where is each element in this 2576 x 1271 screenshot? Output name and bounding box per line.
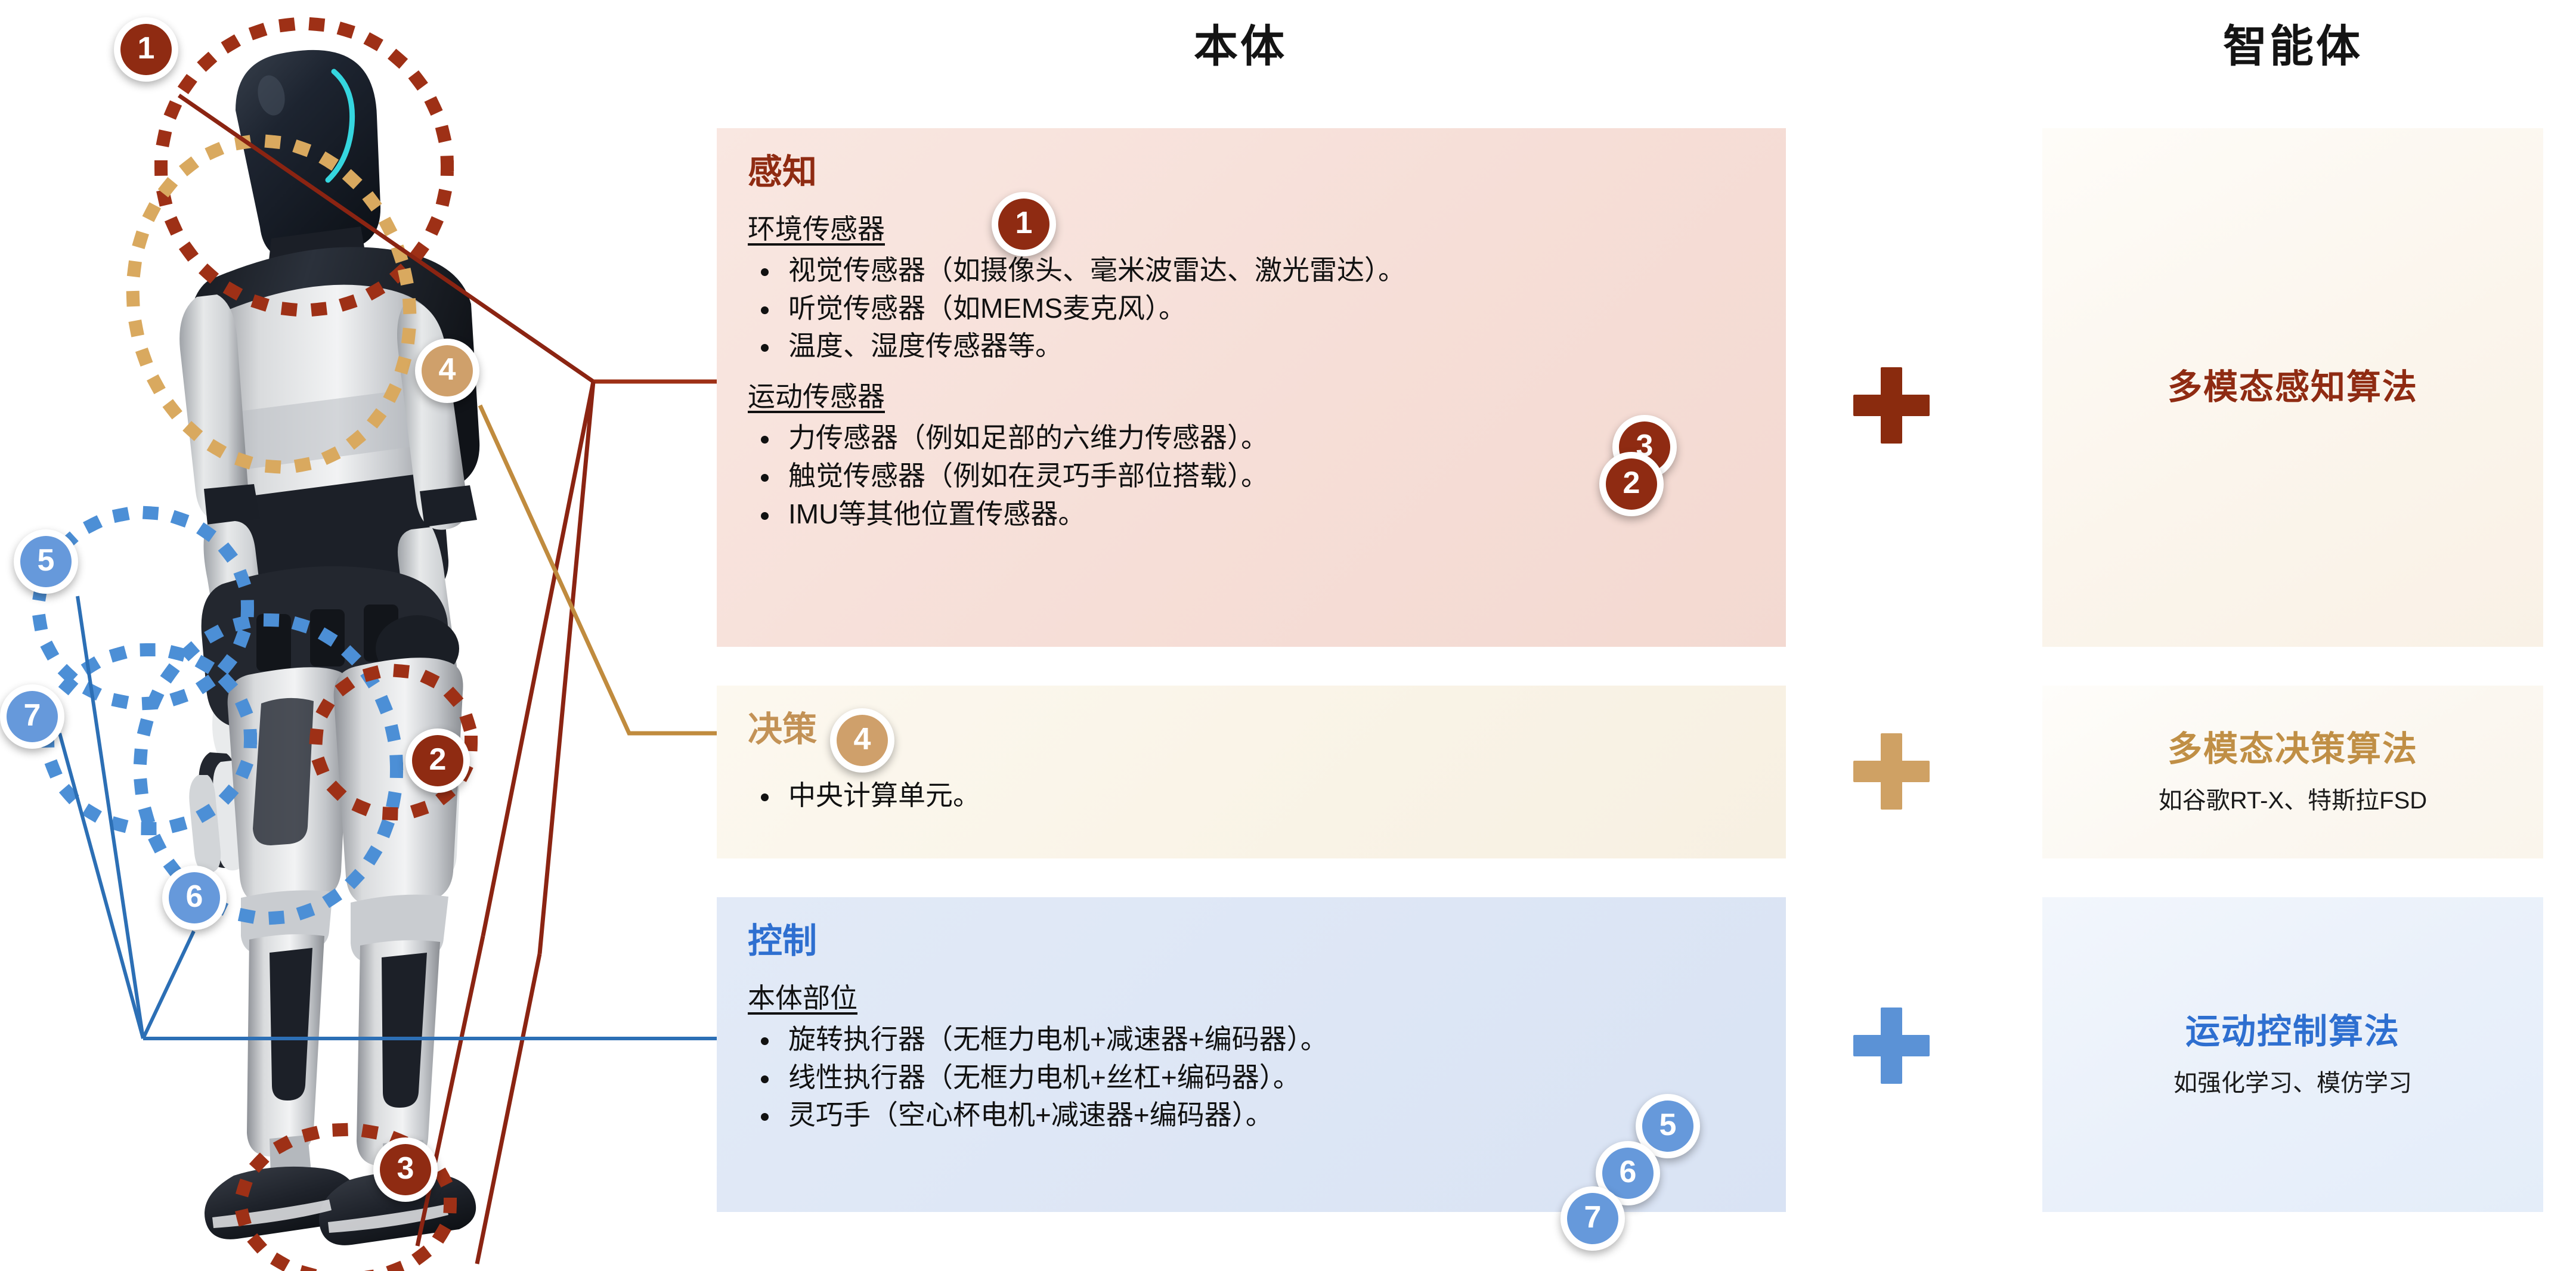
list-item: 线性执行器（无框力电机+丝杠+编码器）。 — [788, 1060, 1755, 1096]
perception-group-0-subhead: 环境传感器 — [748, 207, 885, 247]
agent-control-subtitle: 如强化学习、模仿学习 — [2173, 1064, 2412, 1098]
inline-badge-4-number: 4 — [837, 715, 888, 766]
perception-group-0-list: 视觉传感器（如摄像头、毫米波雷达、激光雷达）。 听觉传感器（如MEMS麦克风）。… — [754, 253, 1755, 364]
panel-decision: 决策 4 中央计算单元。 — [717, 686, 1786, 858]
inline-badge-7[interactable]: 7 — [1561, 1186, 1625, 1251]
list-item: 力传感器（例如足部的六维力传感器）。 — [788, 420, 1755, 456]
panel-control-title: 控制 — [748, 923, 817, 960]
list-item: 视觉传感器（如摄像头、毫米波雷达、激光雷达）。 — [788, 253, 1755, 289]
column-title-agent: 智能体 — [2042, 11, 2543, 75]
diagram-canvas: 本体 智能体 — [0, 0, 2576, 1271]
callout-badge-4[interactable]: 4 — [415, 339, 479, 403]
column-title-body: 本体 — [1073, 11, 1407, 75]
control-group-0-list: 旋转执行器（无框力电机+减速器+编码器）。 线性执行器（无框力电机+丝杠+编码器… — [754, 1022, 1755, 1133]
inline-badge-1[interactable]: 1 — [992, 192, 1056, 256]
callout-badge-5-number: 5 — [20, 536, 72, 587]
agent-decision-subtitle: 如谷歌RT-X、特斯拉FSD — [2159, 781, 2427, 816]
callout-badge-2[interactable]: 2 — [405, 728, 470, 793]
robot-illustration — [0, 0, 716, 1271]
inline-badge-2-number: 2 — [1606, 458, 1657, 510]
agent-box-decision: 多模态决策算法 如谷歌RT-X、特斯拉FSD — [2042, 686, 2543, 858]
callout-badge-3-number: 3 — [380, 1144, 431, 1195]
panel-control: 控制 本体部位 旋转执行器（无框力电机+减速器+编码器）。 线性执行器（无框力电… — [717, 897, 1786, 1212]
inline-badge-1-number: 1 — [998, 199, 1049, 250]
agent-box-control: 运动控制算法 如强化学习、模仿学习 — [2042, 897, 2543, 1212]
callout-badge-1-number: 1 — [120, 24, 172, 75]
callout-badge-2-number: 2 — [412, 735, 463, 786]
inline-badge-7-number: 7 — [1567, 1193, 1618, 1244]
callout-badge-6[interactable]: 6 — [162, 866, 227, 930]
list-item: 温度、湿度传感器等。 — [788, 328, 1755, 364]
plus-icon-control — [1853, 1007, 1930, 1084]
plus-icon-perception — [1853, 367, 1930, 444]
callout-badge-1[interactable]: 1 — [114, 17, 178, 82]
callout-badge-3[interactable]: 3 — [373, 1137, 438, 1202]
panel-decision-title: 决策 — [748, 712, 817, 748]
perception-group-1-subhead: 运动传感器 — [748, 375, 885, 414]
inline-badge-2[interactable]: 2 — [1599, 452, 1664, 516]
agent-control-title: 运动控制算法 — [2185, 1011, 2400, 1053]
callout-badge-5[interactable]: 5 — [14, 529, 78, 594]
decision-group-0-list: 中央计算单元。 — [754, 778, 1755, 814]
panel-perception: 感知 环境传感器 1 视觉传感器（如摄像头、毫米波雷达、激光雷达）。 听觉传感器… — [717, 128, 1786, 647]
inline-badge-5-number: 5 — [1642, 1100, 1693, 1152]
list-item: 灵巧手（空心杯电机+减速器+编码器）。 — [788, 1098, 1755, 1133]
panel-perception-title: 感知 — [748, 154, 817, 191]
agent-decision-title: 多模态决策算法 — [2168, 728, 2418, 770]
plus-icon-decision — [1853, 733, 1930, 810]
callout-badge-7[interactable]: 7 — [0, 684, 64, 749]
list-item: 听觉传感器（如MEMS麦克风）。 — [788, 291, 1755, 327]
callout-badge-6-number: 6 — [169, 872, 220, 923]
callout-badge-7-number: 7 — [7, 691, 58, 742]
agent-perception-title: 多模态感知算法 — [2168, 367, 2418, 408]
list-item: 旋转执行器（无框力电机+减速器+编码器）。 — [788, 1022, 1755, 1058]
inline-badge-4[interactable]: 4 — [830, 708, 894, 773]
list-item: 中央计算单元。 — [788, 778, 1755, 814]
callout-badge-4-number: 4 — [422, 345, 473, 396]
agent-box-perception: 多模态感知算法 — [2042, 128, 2543, 647]
control-group-0-subhead: 本体部位 — [748, 976, 857, 1016]
